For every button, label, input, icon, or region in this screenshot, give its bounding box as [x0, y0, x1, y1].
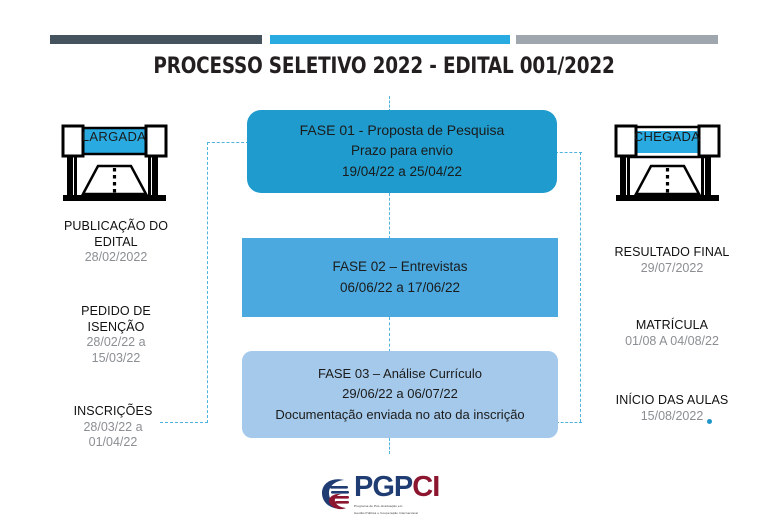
- connector-fase01-fase02: [389, 193, 390, 239]
- milestone-label: MATRÍCULA: [582, 318, 762, 334]
- globe-icon: [318, 474, 352, 514]
- logo-text-blue: PGP: [354, 471, 412, 503]
- phase-line: Prazo para envio: [351, 141, 453, 162]
- milestone-label: PUBLICAÇÃO DO: [26, 219, 206, 235]
- milestone-label: RESULTADO FINAL: [582, 245, 762, 261]
- logo-tagline-line2: Gestão Pública e Cooperação Internaciona…: [354, 511, 439, 515]
- milestone-date: 15/03/22: [26, 351, 206, 367]
- connector-left-to-fase01: [207, 142, 249, 143]
- milestone-date: 01/08 A 04/08/22: [582, 334, 762, 350]
- connector-right-vertical: [580, 152, 581, 422]
- phase-line: 29/06/22 a 06/07/22: [342, 384, 458, 404]
- milestone-label: INÍCIO DAS AULAS: [582, 393, 762, 409]
- phase-line: FASE 01 - Proposta de Pesquisa: [300, 120, 505, 142]
- slide-canvas: PROCESSO SELETIVO 2022 - EDITAL 001/2022…: [0, 0, 768, 531]
- connector-fase03-bottom: [389, 438, 390, 454]
- milestone-resultado-final: RESULTADO FINAL 29/07/2022: [582, 245, 762, 276]
- connector-fase02-fase03: [389, 317, 390, 352]
- milestone-publicacao-edital: PUBLICAÇÃO DO EDITAL 28/02/2022: [26, 219, 206, 266]
- phase-line: FASE 03 – Análise Currículo: [318, 364, 482, 384]
- start-gantry-icon: LARGADA: [58, 118, 170, 208]
- milestone-date: 28/02/2022: [26, 250, 206, 266]
- milestone-label: INSCRIÇÕES: [23, 404, 203, 420]
- milestone-label: ISENÇÃO: [26, 320, 206, 336]
- logo-text-red: CI: [412, 471, 439, 503]
- milestone-inscricoes: INSCRIÇÕES 28/03/22 a 01/04/22: [23, 404, 203, 451]
- phase-box-fase02[interactable]: FASE 02 – Entrevistas 06/06/22 a 17/06/2…: [242, 238, 558, 317]
- connector-right-from-fase03: [556, 422, 582, 423]
- milestone-date: 15/08/2022: [582, 409, 762, 425]
- page-title: PROCESSO SELETIVO 2022 - EDITAL 001/2022: [27, 54, 741, 79]
- milestone-label: PEDIDO DE: [26, 304, 206, 320]
- milestone-date: 28/03/22 a: [23, 420, 203, 436]
- milestone-date: 01/04/22: [23, 435, 203, 451]
- phase-line: 06/06/22 a 17/06/22: [340, 278, 460, 299]
- header-stripe-dark: [50, 35, 262, 44]
- connector-left-vertical: [207, 142, 208, 423]
- finish-gantry-icon: CHEGADA: [611, 118, 723, 208]
- header-stripe-blue: [270, 35, 510, 44]
- milestone-label: EDITAL: [26, 235, 206, 251]
- phase-line: Documentação enviada no ato da inscrição: [275, 405, 524, 425]
- milestone-end-dot: [707, 419, 712, 424]
- milestone-matricula: MATRÍCULA 01/08 A 04/08/22: [582, 318, 762, 349]
- phase-box-fase01[interactable]: FASE 01 - Proposta de Pesquisa Prazo par…: [247, 110, 557, 193]
- pgpci-logo: PGPCI Programa de Pós-Graduação em Gestã…: [318, 474, 458, 526]
- milestone-inicio-aulas: INÍCIO DAS AULAS 15/08/2022: [582, 393, 762, 424]
- milestone-pedido-isencao: PEDIDO DE ISENÇÃO 28/02/22 a 15/03/22: [26, 304, 206, 367]
- phase-line: FASE 02 – Entrevistas: [332, 257, 467, 278]
- connector-right-to-chegada: [555, 152, 582, 153]
- header-stripe-gray: [516, 35, 718, 44]
- logo-tagline-line1: Programa de Pós-Graduação em: [354, 504, 439, 508]
- milestone-date: 29/07/2022: [582, 261, 762, 277]
- phase-line: 19/04/22 a 25/04/22: [342, 162, 462, 183]
- milestone-date: 28/02/22 a: [26, 335, 206, 351]
- phase-box-fase03[interactable]: FASE 03 – Análise Currículo 29/06/22 a 0…: [242, 351, 558, 438]
